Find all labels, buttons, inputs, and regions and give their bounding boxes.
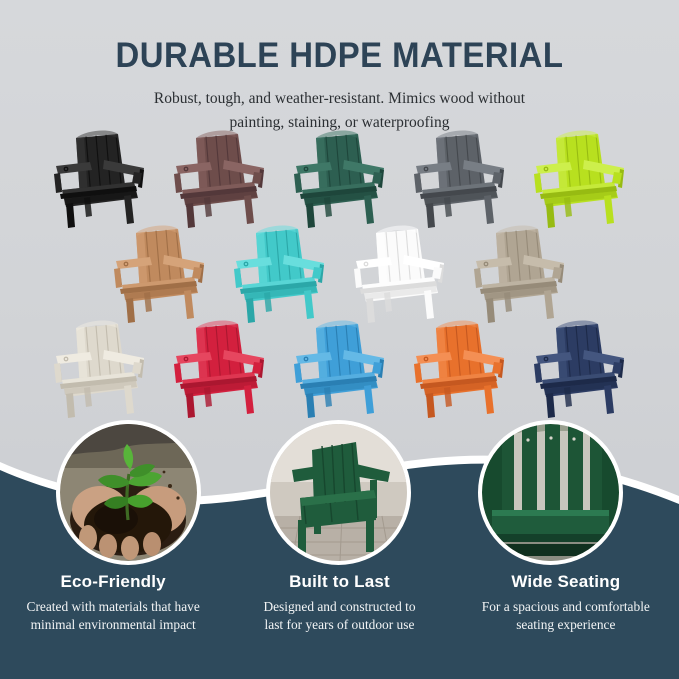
subtitle-line-1: Robust, tough, and weather-resistant. Mi… — [0, 87, 679, 111]
feature-title: Built to Last — [234, 572, 444, 592]
chair-swatch-red[interactable] — [166, 318, 274, 421]
chair-swatch-lime[interactable] — [526, 128, 634, 231]
chair-swatch-turquoise[interactable] — [226, 223, 334, 326]
chair-swatch-dark-green[interactable] — [286, 128, 394, 231]
feature-desc-line-1: Created with materials that have — [8, 598, 218, 616]
chair-swatch-ivory[interactable] — [46, 318, 154, 421]
chair-swatch-gray[interactable] — [406, 128, 514, 231]
chair-swatch-light-blue[interactable] — [286, 318, 394, 421]
infographic-canvas: DURABLE HDPE MATERIAL Robust, tough, and… — [0, 0, 679, 679]
feature-title: Eco-Friendly — [8, 572, 218, 592]
subtitle-line-2: painting, staining, or waterproofing — [0, 111, 679, 135]
feature-built-to-last: Built to Last Designed and constructed t… — [226, 572, 452, 634]
feature-desc-line-1: Designed and constructed to — [234, 598, 444, 616]
chair-swatch-orange[interactable] — [406, 318, 514, 421]
chair-swatch-teak[interactable] — [106, 223, 214, 326]
circle-photo-eco-friendly — [56, 420, 201, 565]
feature-list: Eco-Friendly Created with materials that… — [0, 572, 679, 634]
feature-desc-line-2: last for years of outdoor use — [234, 616, 444, 634]
circle-photo-built-to-last — [266, 420, 411, 565]
feature-desc-line-2: minimal environmental impact — [8, 616, 218, 634]
chair-swatch-white[interactable] — [346, 223, 454, 326]
chair-color-grid — [0, 128, 679, 421]
feature-description: For a spacious and comfortable seating e… — [461, 598, 671, 634]
feature-desc-line-2: seating experience — [461, 616, 671, 634]
chair-swatch-brown[interactable] — [166, 128, 274, 231]
circle-photo-wide-seating — [478, 420, 623, 565]
header: DURABLE HDPE MATERIAL Robust, tough, and… — [0, 0, 679, 134]
feature-eco-friendly: Eco-Friendly Created with materials that… — [0, 572, 226, 634]
chair-row-3 — [0, 318, 679, 421]
feature-description: Created with materials that have minimal… — [8, 598, 218, 634]
chair-row-2 — [0, 223, 679, 326]
feature-description: Designed and constructed to last for yea… — [234, 598, 444, 634]
feature-wide-seating: Wide Seating For a spacious and comforta… — [453, 572, 679, 634]
chair-swatch-black[interactable] — [46, 128, 154, 231]
chair-row-1 — [0, 128, 679, 231]
feature-photos — [0, 420, 679, 570]
chair-swatch-greige[interactable] — [466, 223, 574, 326]
chair-swatch-navy[interactable] — [526, 318, 634, 421]
page-title: DURABLE HDPE MATERIAL — [20, 36, 658, 76]
feature-title: Wide Seating — [461, 572, 671, 592]
feature-desc-line-1: For a spacious and comfortable — [461, 598, 671, 616]
page-subtitle: Robust, tough, and weather-resistant. Mi… — [0, 87, 679, 134]
